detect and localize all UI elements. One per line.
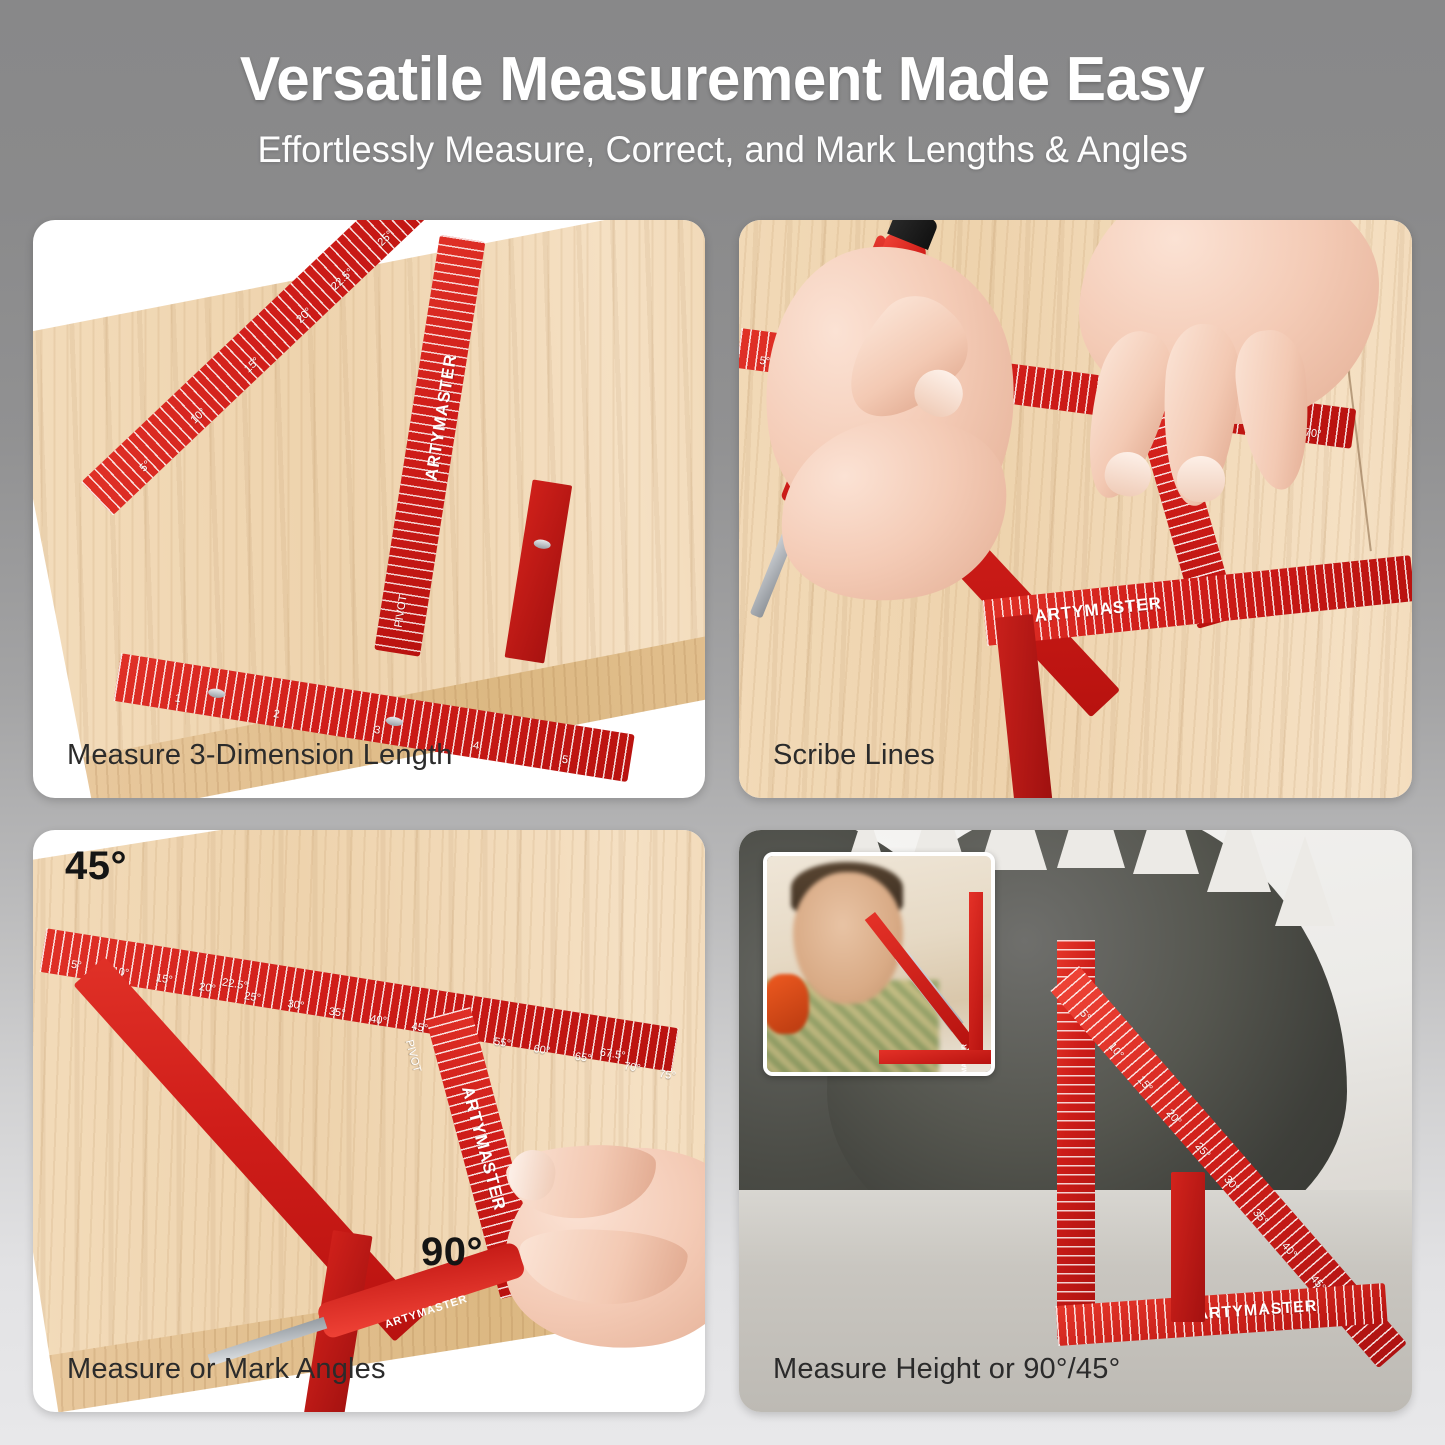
panel-measure-height-or-90-45[interactable]: 5° 10° 15° 20° 25° 30° 35° 40° 45° 50° A… [739, 830, 1412, 1412]
saw-tooth [1133, 830, 1199, 874]
angle-tag-90: 90° [421, 1230, 483, 1275]
saw-tooth [1057, 830, 1125, 868]
panel-3-photo: 5° 10° 15° 20° 22.5° 25° 30° 35° 40° 45°… [33, 830, 705, 1412]
inset-photo-thumbnail[interactable]: ARTYMASTER [763, 852, 995, 1076]
square-fence-lip [1171, 1172, 1205, 1322]
panel-1-photo: 5° 10° 15° 20° 22.5° 25° 30° 1 2 3 4 5 [33, 220, 705, 798]
panel-caption: Measure Height or 90°/45° [773, 1353, 1120, 1386]
degree-label: 15° [155, 972, 173, 986]
panel-4-photo: 5° 10° 15° 20° 25° 30° 35° 40° 45° 50° A… [739, 830, 1412, 1412]
fingernail [1177, 456, 1225, 502]
degree-label: 5° [70, 959, 82, 972]
square-bottom-arm: ARTYMASTER [1056, 1283, 1388, 1346]
page-subtitle: Effortlessly Measure, Correct, and Mark … [257, 129, 1187, 171]
inset-square-vertical-arm: ARTYMASTER [969, 892, 983, 1060]
panel-measure-3d-length[interactable]: 5° 10° 15° 20° 22.5° 25° 30° 1 2 3 4 5 [33, 220, 705, 798]
pivot-label: PIVOT [403, 1039, 423, 1074]
speed-square: 5° 10° 15° 20° 25° 30° 35° 40° 45° 50° A… [1039, 940, 1399, 1370]
feature-panel-grid: 5° 10° 15° 20° 22.5° 25° 30° 1 2 3 4 5 [33, 220, 1412, 1412]
speed-square: 5° 10° 15° 20° 22.5° 25° 30° 1 2 3 4 5 [94, 221, 652, 760]
page-title: Versatile Measurement Made Easy [240, 44, 1204, 115]
panel-2-photo: 5° 15° 65° 67.5° 70° ARTYMASTER PIVOT [739, 220, 1412, 798]
square-fence-lip [505, 479, 573, 663]
panel-caption: Measure or Mark Angles [67, 1353, 386, 1386]
degree-label: 30° [287, 998, 305, 1012]
degree-label: 65° [574, 1051, 592, 1065]
degree-label: 60° [533, 1043, 551, 1057]
degree-label: 70° [623, 1060, 641, 1074]
inset-square-hypotenuse [865, 912, 977, 1050]
rivet [533, 538, 551, 550]
degree-label: 75° [658, 1068, 676, 1082]
panel-scribe-lines[interactable]: 5° 15° 65° 67.5° 70° ARTYMASTER PIVOT [739, 220, 1412, 798]
degree-label: 25° [243, 990, 261, 1004]
inset-square-bottom-arm [879, 1050, 995, 1064]
degree-label: 40° [369, 1013, 387, 1027]
panel-caption: Scribe Lines [773, 739, 935, 772]
degree-label: 20° [198, 981, 216, 995]
degree-label: 35° [328, 1006, 346, 1020]
panel-measure-or-mark-angles[interactable]: 5° 10° 15° 20° 22.5° 25° 30° 35° 40° 45°… [33, 830, 705, 1412]
header: Versatile Measurement Made Easy Effortle… [0, 0, 1445, 200]
ear-protection [763, 974, 809, 1034]
square-vertical-arm: ARTYMASTER PIVOT [374, 235, 485, 657]
inset-speed-square: ARTYMASTER [871, 892, 995, 1068]
degree-label: 55° [493, 1036, 511, 1050]
panel-caption: Measure 3-Dimension Length [67, 739, 453, 772]
angle-tag-45: 45° [65, 844, 127, 889]
